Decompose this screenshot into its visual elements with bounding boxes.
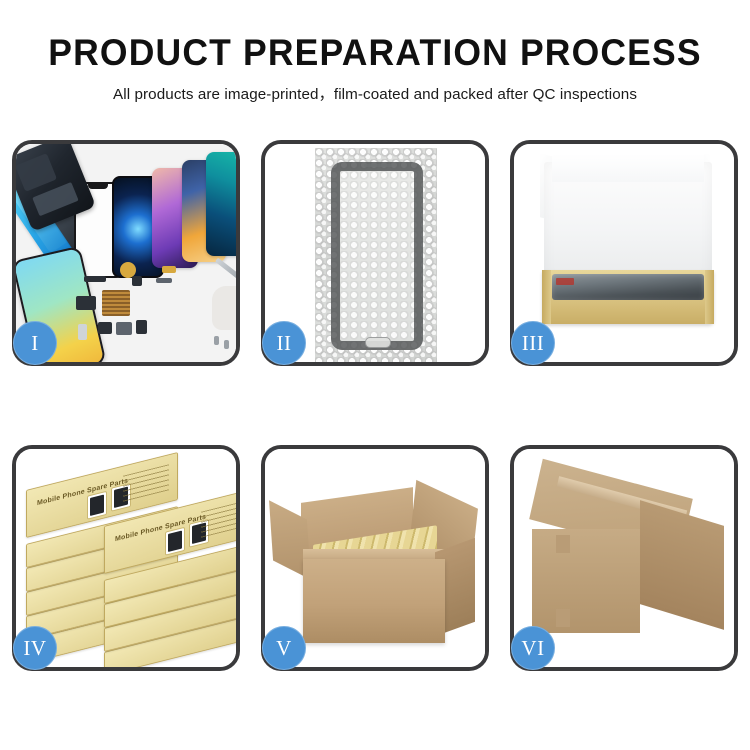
hand bbox=[212, 286, 236, 330]
flex-cable-part-2 bbox=[156, 278, 172, 283]
process-step-1: I bbox=[12, 140, 240, 366]
step-badge-2: II bbox=[262, 321, 306, 365]
chip-grid-part bbox=[102, 290, 130, 316]
battery-connector-part bbox=[136, 320, 147, 334]
bubble-wrap-sheet bbox=[315, 148, 437, 362]
page-subtitle: All products are image-printed，film-coat… bbox=[0, 82, 750, 104]
tiny-ic-part bbox=[132, 276, 142, 286]
step-badge-5: V bbox=[262, 626, 306, 670]
header: PRODUCT PREPARATION PROCESS All products… bbox=[0, 0, 750, 104]
box-stack: Mobile Phone Spare Parts Mobile Phone Sp… bbox=[20, 471, 236, 661]
process-step-3: III bbox=[510, 140, 738, 366]
box-thumbnail bbox=[87, 491, 107, 520]
process-step-2: II bbox=[261, 140, 489, 366]
carton-seam-lower bbox=[556, 609, 570, 627]
process-step-4: Mobile Phone Spare Parts Mobile Phone Sp… bbox=[12, 445, 240, 671]
step-badge-3: III bbox=[511, 321, 555, 365]
gold-connector-part bbox=[162, 266, 176, 273]
box-lid-flap bbox=[552, 154, 704, 182]
step-badge-1: I bbox=[13, 321, 57, 365]
small-ic-part bbox=[98, 322, 112, 334]
sealed-carton-front bbox=[532, 529, 640, 633]
camera-module-part bbox=[76, 296, 96, 310]
screen-inside-box bbox=[552, 274, 704, 300]
carton-front-panel bbox=[303, 559, 445, 643]
flex-cable-part-1 bbox=[84, 276, 106, 282]
screw-part-2 bbox=[224, 340, 229, 349]
process-step-grid: I II III bbox=[12, 140, 738, 671]
process-step-5: V bbox=[261, 445, 489, 671]
step-badge-6: VI bbox=[511, 626, 555, 670]
speaker-part bbox=[116, 322, 132, 335]
carton-seam-upper bbox=[556, 535, 570, 553]
step-badge-4: IV bbox=[13, 626, 57, 670]
box-thumbnail bbox=[165, 527, 185, 556]
product-preparation-infographic: PRODUCT PREPARATION PROCESS All products… bbox=[0, 0, 750, 750]
process-step-6: VI bbox=[510, 445, 738, 671]
sim-tray-part bbox=[78, 324, 87, 340]
page-title: PRODUCT PREPARATION PROCESS bbox=[15, 34, 735, 73]
screw-part-1 bbox=[214, 336, 219, 345]
sealed-carton-right bbox=[640, 500, 724, 630]
wrapped-phone-screen bbox=[331, 162, 423, 350]
teal-gradient-phone bbox=[206, 152, 236, 256]
